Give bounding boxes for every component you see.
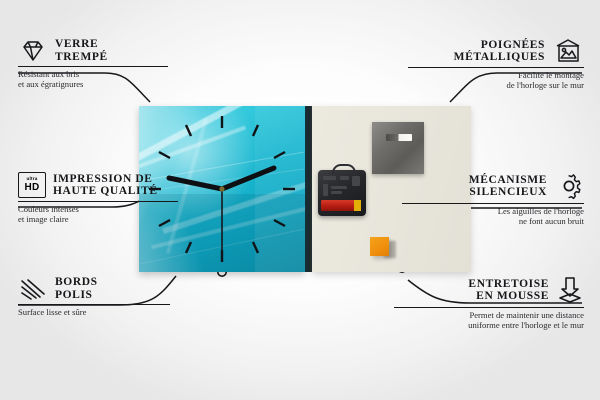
feature-mecanisme-silencieux: MÉCANISME SILENCIEUX Les aiguilles de l'… bbox=[402, 172, 584, 226]
feature-divider bbox=[394, 307, 584, 308]
feature-sub-line2: ne font aucun bruit bbox=[402, 216, 584, 226]
tick-2 bbox=[274, 152, 285, 158]
feature-divider bbox=[18, 66, 168, 67]
feature-title-line2: POLIS bbox=[55, 289, 98, 302]
tick-4 bbox=[274, 220, 285, 226]
feature-title-line2: SILENCIEUX bbox=[469, 186, 547, 199]
ultra-hd-icon-main: HD bbox=[24, 183, 39, 193]
feature-title-line1: IMPRESSION DE bbox=[53, 173, 158, 186]
feature-sub-line2: de l'horloge sur le mur bbox=[408, 80, 584, 90]
gear-icon bbox=[554, 172, 584, 200]
metal-hanger-plate bbox=[372, 122, 424, 174]
ultra-hd-icon: ultra HD bbox=[18, 172, 46, 198]
foam-spacer bbox=[370, 237, 389, 256]
feature-title-line1: MÉCANISME bbox=[469, 174, 547, 187]
tick-1 bbox=[253, 125, 258, 136]
battery-positive-tip bbox=[354, 200, 361, 211]
feature-sub-line2: uniforme entre l'horloge et le mur bbox=[394, 320, 584, 330]
feature-sub-line1: Surface lisse et sûre bbox=[18, 307, 170, 317]
diamond-icon bbox=[18, 39, 48, 63]
feature-sub-line2: et aux égratignures bbox=[18, 79, 168, 89]
tick-7 bbox=[186, 242, 191, 253]
feature-poignees-metalliques: POIGNÉES MÉTALLIQUES Facilite le montage… bbox=[408, 38, 584, 90]
feature-divider bbox=[18, 201, 178, 202]
tick-11 bbox=[186, 125, 191, 136]
feature-bords-polis: BORDS POLIS Surface lisse et sûre bbox=[18, 276, 170, 317]
diagonal-lines-icon bbox=[18, 277, 48, 301]
feature-divider bbox=[408, 67, 584, 68]
feature-sub-line1: Couleurs intenses bbox=[18, 204, 178, 214]
feature-sub-line2: et image claire bbox=[18, 214, 178, 224]
feature-divider bbox=[18, 304, 170, 305]
arrow-down-pad-icon bbox=[556, 276, 584, 304]
feature-title-line2: TREMPÉ bbox=[55, 51, 108, 64]
feature-sub-line1: Les aiguilles de l'horloge bbox=[402, 206, 584, 216]
clock-center-cap bbox=[219, 186, 224, 191]
feature-divider bbox=[402, 203, 584, 204]
battery bbox=[321, 200, 361, 211]
clock-side-edge bbox=[305, 106, 312, 272]
feature-verre-trempe: VERRE TREMPÉ Résistant aux bris et aux é… bbox=[18, 38, 168, 89]
feature-sub-line1: Résistant aux bris bbox=[18, 69, 168, 79]
feature-title-line1: BORDS bbox=[55, 276, 98, 289]
feature-title-line2: EN MOUSSE bbox=[476, 290, 549, 303]
feature-title-line1: ENTRETOISE bbox=[468, 278, 549, 291]
hanger-keyhole-slot bbox=[386, 134, 412, 141]
hanging-frame-icon bbox=[552, 38, 584, 64]
tick-5 bbox=[253, 242, 258, 253]
feature-title-line2: MÉTALLIQUES bbox=[454, 51, 545, 64]
feature-entretoise-en-mousse: ENTRETOISE EN MOUSSE Permet de maintenir… bbox=[394, 276, 584, 330]
minute-hand bbox=[222, 168, 274, 189]
mechanism-hanging-loop bbox=[332, 164, 356, 175]
feature-title-line2: HAUTE QUALITÉ bbox=[53, 185, 158, 198]
infographic-canvas: VERRE TREMPÉ Résistant aux bris et aux é… bbox=[0, 0, 600, 400]
feature-title-line1: VERRE bbox=[55, 38, 108, 51]
feature-sub-line1: Permet de maintenir une distance bbox=[394, 310, 584, 320]
feature-sub-line1: Facilite le montage bbox=[408, 70, 584, 80]
feature-impression-haute-qualite: ultra HD IMPRESSION DE HAUTE QUALITÉ Cou… bbox=[18, 172, 178, 224]
clock-mechanism bbox=[318, 170, 366, 216]
tick-10 bbox=[159, 152, 170, 158]
feature-title-line1: POIGNÉES bbox=[481, 39, 545, 52]
